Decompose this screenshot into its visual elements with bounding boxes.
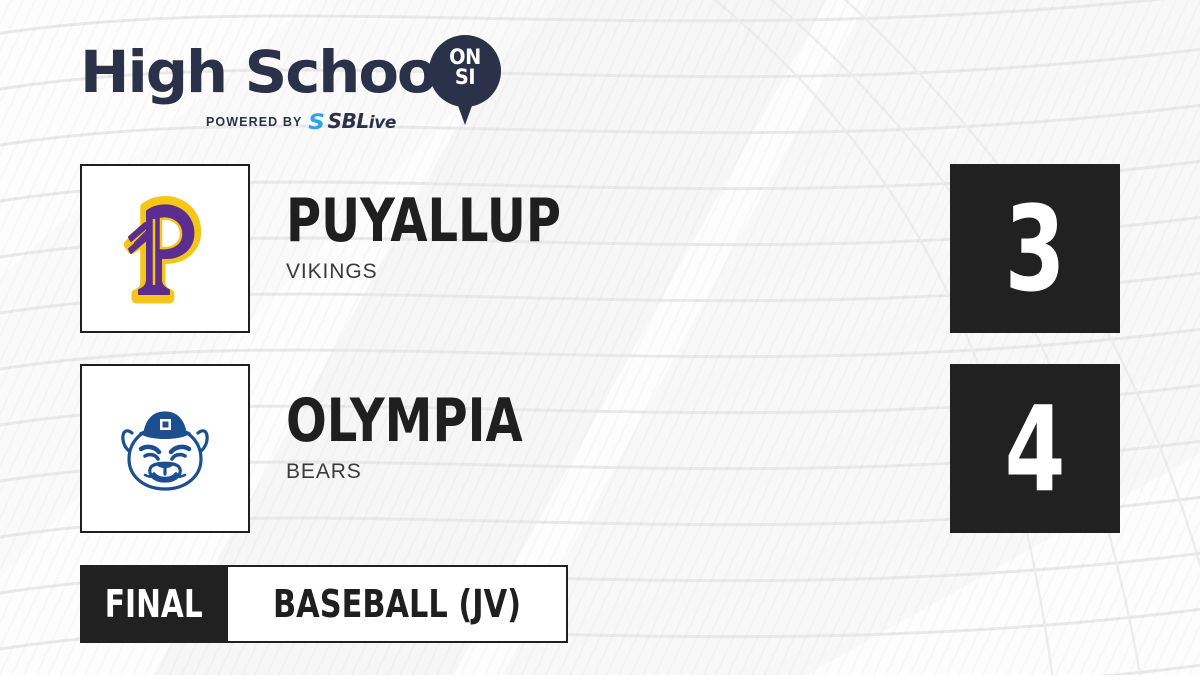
team-mascot: BEARS <box>286 460 886 484</box>
status-bar: FINAL BASEBALL (JV) <box>80 565 568 643</box>
sblive-wordmark: SBLive <box>328 111 396 133</box>
score-box: 3 <box>950 164 1120 333</box>
powered-by-label: POWERED BY <box>206 115 302 129</box>
olympia-bear-logo-icon <box>105 389 225 509</box>
team-name: PUYALLUP <box>286 190 766 252</box>
score-value: 3 <box>1005 190 1066 308</box>
pin-line-on: ON <box>432 47 498 67</box>
sblive-s-mark: S <box>309 112 326 132</box>
puyallup-p-logo-icon <box>105 189 225 309</box>
sport-label: BASEBALL (JV) <box>273 585 521 623</box>
team-text-block: OLYMPIA BEARS <box>286 390 886 484</box>
sblive-word-upper: SBL <box>328 109 369 133</box>
score-value: 4 <box>1005 390 1066 508</box>
team-logo-card-puyallup <box>80 164 250 333</box>
team-row: OLYMPIA BEARS 4 <box>80 364 1120 533</box>
team-mascot: VIKINGS <box>286 260 886 284</box>
sblive-word-lower: ive <box>369 113 396 133</box>
powered-by-row: POWERED BY S SBLive <box>206 112 396 132</box>
status-state-label: FINAL <box>105 585 203 623</box>
team-logo-card-olympia <box>80 364 250 533</box>
sport-label-panel: BASEBALL (JV) <box>228 565 568 643</box>
sblive-logo: S SBLive <box>309 111 396 133</box>
score-box: 4 <box>950 364 1120 533</box>
status-badge: FINAL <box>80 565 228 643</box>
pin-line-si: SI <box>432 67 498 87</box>
pin-text: ON SI <box>429 47 501 87</box>
on-si-pin-icon: ON SI <box>429 35 501 127</box>
brand-wordmark: High School <box>80 41 454 103</box>
team-name: OLYMPIA <box>286 390 766 452</box>
team-row: PUYALLUP VIKINGS 3 <box>80 164 1120 333</box>
brand-header: High School ON SI POWERED BY S SBLive <box>80 33 520 133</box>
team-text-block: PUYALLUP VIKINGS <box>286 190 886 284</box>
